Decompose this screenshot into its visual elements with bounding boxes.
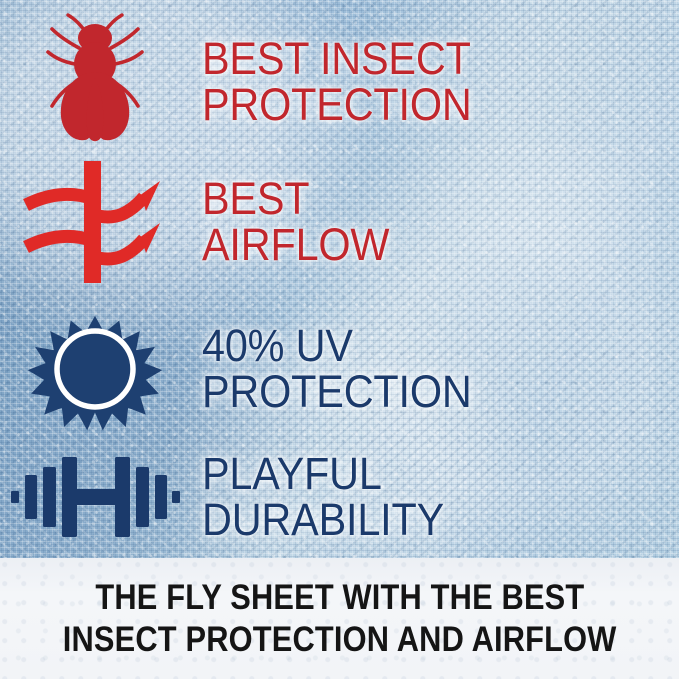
feature-headline-durability: PLAYFUL DURABILITY — [202, 451, 641, 543]
feature-text-cell: BEST AIRFLOW — [190, 176, 679, 268]
banner-line-2: INSECT PROTECTION AND AIRFLOW — [63, 619, 617, 660]
fly-icon — [35, 12, 155, 152]
feature-text-cell: 40% UV PROTECTION — [190, 323, 679, 415]
banner-line-1: THE FLY SHEET WITH THE BEST — [95, 577, 584, 618]
feature-icon-cell — [0, 12, 190, 152]
feature-headline-insect-protection: BEST INSECT PROTECTION — [202, 36, 641, 128]
feature-icon-cell — [0, 449, 190, 545]
infographic-canvas: BEST INSECT PROTECTION — [0, 0, 679, 679]
feature-icon-cell — [0, 159, 190, 285]
feature-icon-cell — [0, 303, 190, 435]
feature-text-cell: PLAYFUL DURABILITY — [190, 451, 679, 543]
feature-row-uv-protection: 40% UV PROTECTION — [0, 296, 679, 442]
feature-list: BEST INSECT PROTECTION — [0, 0, 679, 558]
feature-text-cell: BEST INSECT PROTECTION — [190, 36, 679, 128]
feature-row-airflow: BEST AIRFLOW — [0, 152, 679, 292]
bottom-banner: THE FLY SHEET WITH THE BEST INSECT PROTE… — [0, 558, 679, 679]
dumbbell-icon — [9, 449, 181, 545]
feature-headline-airflow: BEST AIRFLOW — [202, 176, 641, 268]
feature-row-durability: PLAYFUL DURABILITY — [0, 436, 679, 558]
airflow-icon — [20, 159, 170, 285]
sun-burst-icon — [29, 303, 161, 435]
feature-row-insect-protection: BEST INSECT PROTECTION — [0, 8, 679, 156]
feature-headline-uv-protection: 40% UV PROTECTION — [202, 323, 641, 415]
